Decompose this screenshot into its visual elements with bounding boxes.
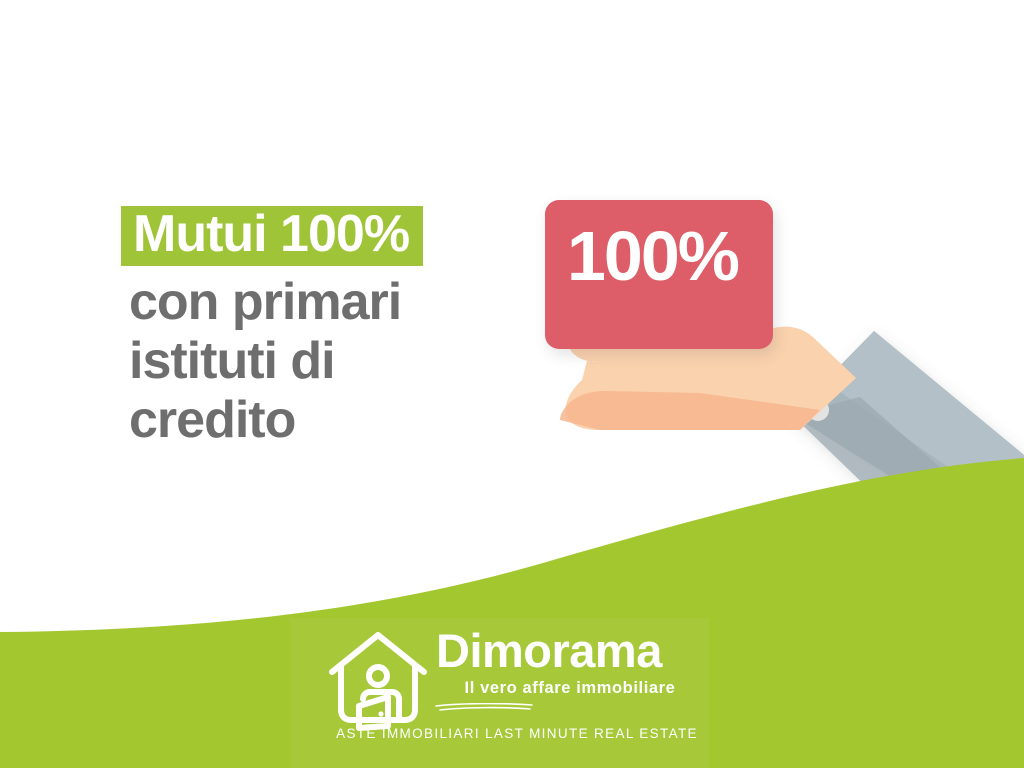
percentage-badge-card: 100%: [545, 200, 773, 349]
logo-text-group: Dimorama Il vero affare immobiliare: [434, 624, 706, 718]
headline-highlight: Mutui 100%: [121, 206, 423, 266]
house-with-open-door-icon: [326, 628, 430, 732]
brand-logo: Dimorama Il vero affare immobiliare ASTE…: [326, 624, 706, 749]
headline-line-1: con primari: [123, 273, 543, 332]
headline-line-2: istituti di: [123, 332, 543, 391]
promo-poster: Mutui 100% con primari istituti di credi…: [0, 0, 1024, 768]
percentage-badge-label: 100%: [567, 216, 738, 296]
logo-tagline: Il vero affare immobiliare: [434, 678, 706, 698]
logo-wordmark: Dimorama: [436, 624, 706, 678]
logo-flourish-icon: [434, 703, 534, 713]
headline-block: Mutui 100% con primari istituti di credi…: [123, 205, 543, 450]
logo-strapline: ASTE IMMOBILIARI LAST MINUTE REAL ESTATE: [325, 726, 709, 741]
headline-line-3: credito: [123, 391, 543, 450]
headline-highlight-row: Mutui 100%: [123, 205, 543, 273]
